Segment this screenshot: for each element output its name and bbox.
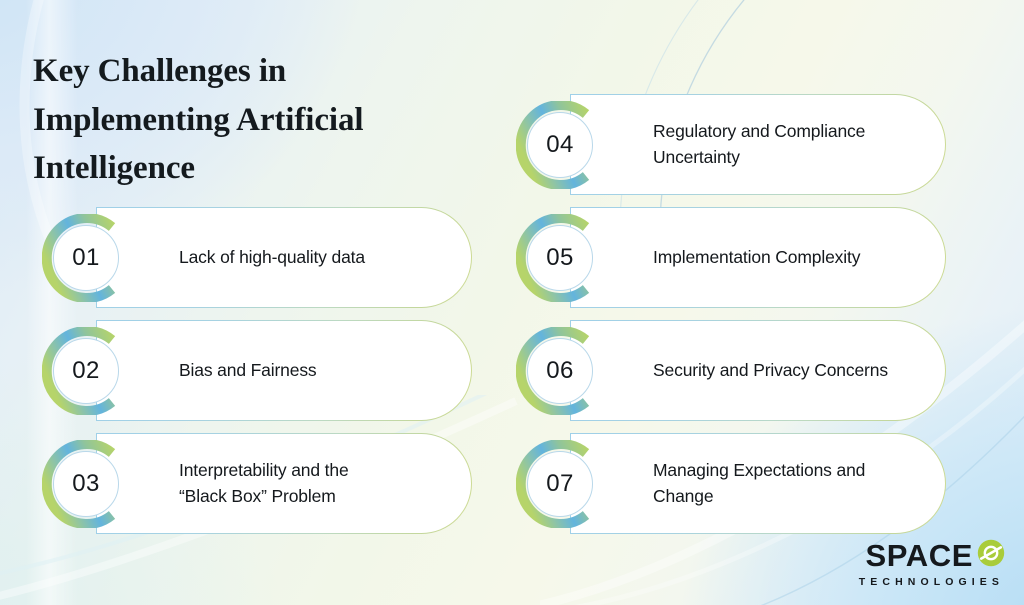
challenge-number-badge: 05	[527, 225, 593, 291]
challenge-number: 05	[546, 246, 574, 270]
challenge-card[interactable]: Implementation Complexity	[570, 207, 946, 308]
challenge-item-07[interactable]: Managing Expectations and Change 07	[516, 433, 946, 534]
challenge-card[interactable]: Bias and Fairness	[96, 320, 472, 421]
brand-logo: SPACE TECHNOLOGIES	[859, 538, 1006, 588]
challenge-number-badge: 04	[527, 112, 593, 178]
challenge-label-line: Uncertainty	[653, 145, 865, 170]
challenge-label-line: Implementation Complexity	[653, 245, 860, 270]
brand-name: SPACE	[865, 540, 973, 571]
challenge-item-05[interactable]: Implementation Complexity 05	[516, 207, 946, 308]
page-title-line-3: Intelligence	[33, 144, 483, 193]
challenge-item-01[interactable]: Lack of high-quality data 01	[42, 207, 472, 308]
challenge-item-06[interactable]: Security and Privacy Concerns 06	[516, 320, 946, 421]
challenge-number: 03	[72, 472, 100, 496]
challenge-label-line: Security and Privacy Concerns	[653, 358, 888, 383]
infographic-canvas: Key Challenges in Implementing Artificia…	[0, 0, 1024, 605]
challenge-label-line: Managing Expectations and	[653, 458, 865, 483]
challenge-label: Security and Privacy Concerns	[571, 358, 914, 383]
brand-subtitle: TECHNOLOGIES	[859, 577, 1006, 588]
challenge-card[interactable]: Managing Expectations and Change	[570, 433, 946, 534]
page-title-line-1: Key Challenges in	[33, 47, 483, 96]
challenge-card[interactable]: Interpretability and the “Black Box” Pro…	[96, 433, 472, 534]
challenge-label: Implementation Complexity	[571, 245, 886, 270]
challenge-card[interactable]: Security and Privacy Concerns	[570, 320, 946, 421]
challenge-label-line: Regulatory and Compliance	[653, 119, 865, 144]
page-title: Key Challenges in Implementing Artificia…	[33, 47, 483, 193]
challenge-label-line: Lack of high-quality data	[179, 245, 365, 270]
challenge-item-03[interactable]: Interpretability and the “Black Box” Pro…	[42, 433, 472, 534]
challenge-item-02[interactable]: Bias and Fairness 02	[42, 320, 472, 421]
challenge-item-04[interactable]: Regulatory and Compliance Uncertainty 04	[516, 94, 946, 195]
challenge-number-badge: 01	[53, 225, 119, 291]
challenge-label: Managing Expectations and Change	[571, 458, 891, 508]
challenge-label: Lack of high-quality data	[97, 245, 391, 270]
page-title-line-2: Implementing Artificial	[33, 96, 483, 145]
challenge-label-line: Interpretability and the	[179, 458, 349, 483]
challenge-label-line: Change	[653, 484, 865, 509]
challenge-label: Bias and Fairness	[97, 358, 343, 383]
brand-logo-row: SPACE	[859, 538, 1006, 573]
slashed-o-icon	[976, 538, 1006, 573]
challenge-label-line: Bias and Fairness	[179, 358, 317, 383]
challenge-number-badge: 06	[527, 338, 593, 404]
challenge-number: 07	[546, 472, 574, 496]
challenge-card[interactable]: Regulatory and Compliance Uncertainty	[570, 94, 946, 195]
challenge-label: Interpretability and the “Black Box” Pro…	[97, 458, 375, 508]
challenge-label-line: “Black Box” Problem	[179, 484, 349, 509]
challenge-number-badge: 07	[527, 451, 593, 517]
challenge-number-badge: 02	[53, 338, 119, 404]
challenge-number: 02	[72, 359, 100, 383]
challenge-number: 06	[546, 359, 574, 383]
challenge-card[interactable]: Lack of high-quality data	[96, 207, 472, 308]
challenge-number-badge: 03	[53, 451, 119, 517]
challenge-number: 04	[546, 133, 574, 157]
challenge-label: Regulatory and Compliance Uncertainty	[571, 119, 891, 169]
challenge-number: 01	[72, 246, 100, 270]
